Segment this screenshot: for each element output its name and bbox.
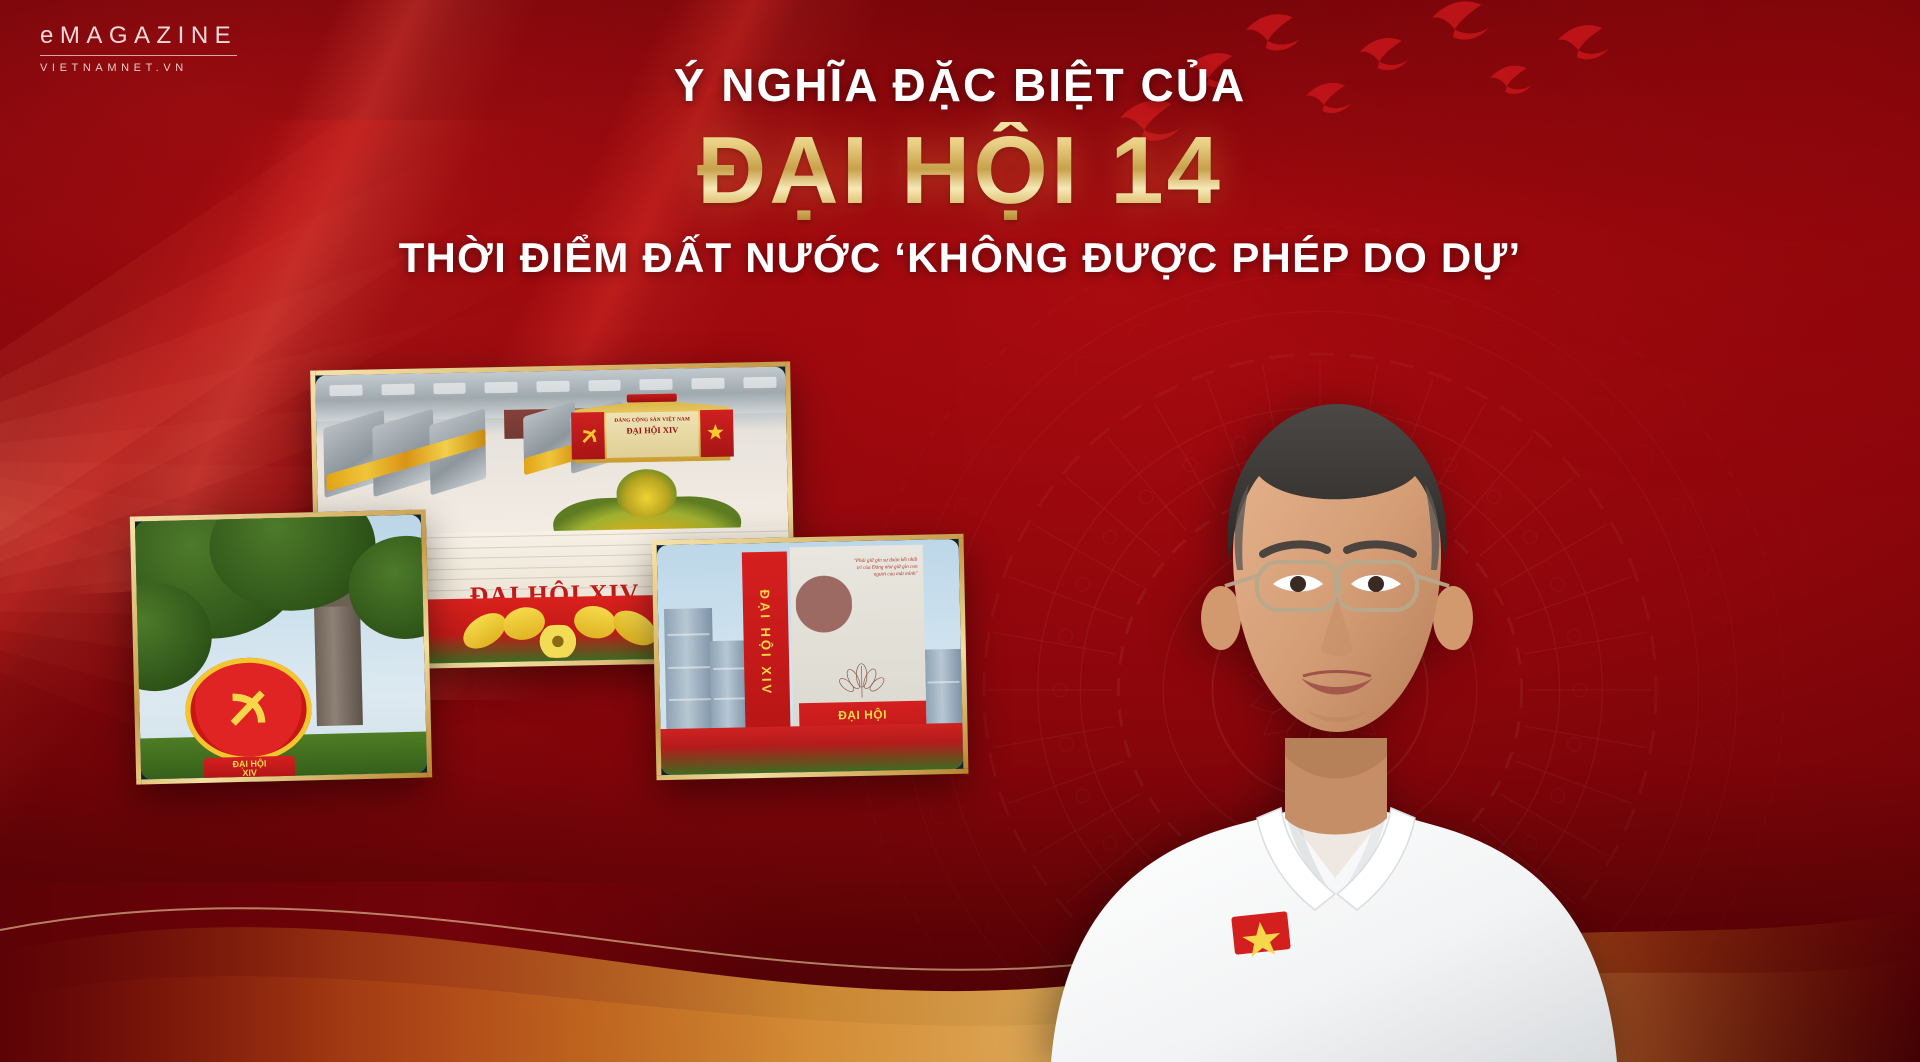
party-emblem-display: ĐẠI HỘI XIV (184, 657, 312, 763)
brand-domain: VIETNAMNET.VN (40, 62, 237, 74)
featured-portrait (985, 318, 1685, 1062)
right-banner-line-1: ĐẠI HỘI (799, 706, 926, 723)
photo-left-content: ĐẠI HỘI XIV (135, 515, 427, 780)
photo-card-left[interactable]: ĐẠI HỘI XIV (130, 509, 432, 784)
bottom-left-block (0, 882, 760, 1062)
vertical-banner-text: ĐẠI HỘI XIV (757, 590, 774, 697)
poster-quote: "Phải giữ gìn sự đoàn kết nhất trí của Đ… (854, 557, 918, 579)
vertical-red-banner: ĐẠI HỘI XIV (741, 552, 791, 755)
hammer-sickle-icon (579, 422, 599, 448)
gold-star-icon (707, 421, 726, 443)
brand-name: eMAGAZINE (40, 22, 237, 56)
banner-line-2: ĐẠI HỘI XIV (606, 424, 698, 436)
emagazine-cover: eMAGAZINE VIETNAMNET.VN Ý NGHĨA ĐẶC BIỆT… (0, 0, 1920, 1062)
congress-banner: ĐẢNG CỘNG SẢN VIỆT NAM ĐẠI HỘI XIV (570, 397, 736, 464)
brand-logo[interactable]: eMAGAZINE VIETNAMNET.VN (40, 22, 237, 74)
emblem-caption-2: XIV (242, 768, 257, 778)
hammer-sickle-icon (217, 680, 279, 731)
photo-right-content: "Phải giữ gìn sự đoàn kết nhất trí của Đ… (657, 539, 964, 775)
photo-card-right[interactable]: "Phải giữ gìn sự đoàn kết nhất trí của Đ… (652, 534, 969, 780)
banner-line-1: ĐẢNG CỘNG SẢN VIỆT NAM (606, 416, 698, 424)
